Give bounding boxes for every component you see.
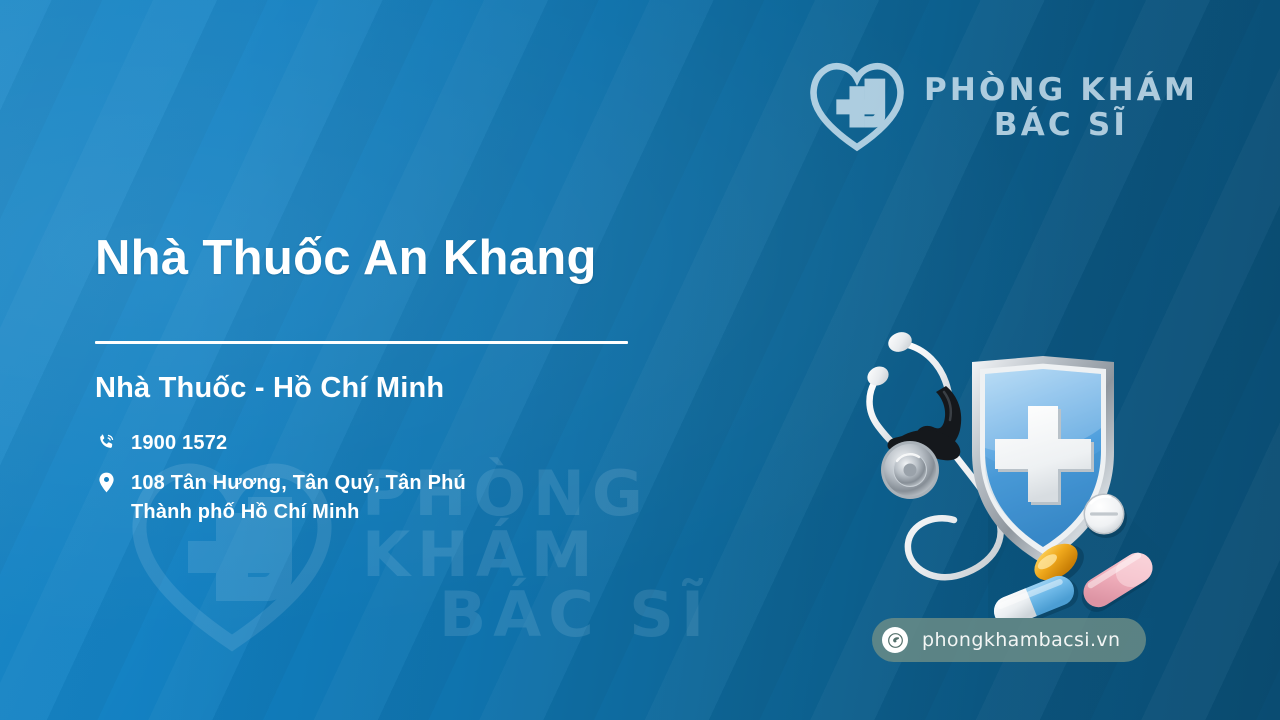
map-pin-icon	[95, 469, 117, 493]
phone-number[interactable]: 1900 1572	[131, 429, 227, 457]
brand-name: PHÒNG KHÁM BÁC SĨ	[924, 73, 1198, 142]
address-line2: Thành phố Hồ Chí Minh	[131, 501, 360, 523]
website-badge[interactable]: phongkhambacsi.vn	[872, 618, 1146, 662]
page-subtitle: Nhà Thuốc - Hồ Chí Minh	[95, 372, 795, 405]
brand-line1: PHÒNG KHÁM	[924, 73, 1198, 108]
contact-info: 1900 1572 108 Tân Hương, Tân Quý, Tân Ph…	[95, 429, 795, 526]
watermark-line2: BÁC SĨ	[362, 585, 788, 646]
main-copy-block: Nhà Thuốc An Khang Nhà Thuốc - Hồ Chí Mi…	[95, 232, 795, 538]
address-line1: 108 Tân Hương, Tân Quý, Tân Phú	[131, 472, 466, 494]
address-text: 108 Tân Hương, Tân Quý, Tân Phú Thành ph…	[131, 469, 466, 526]
address-row: 108 Tân Hương, Tân Quý, Tân Phú Thành ph…	[95, 469, 795, 526]
title-divider	[95, 341, 628, 344]
globe-icon	[882, 627, 908, 653]
brand-logo-icon	[808, 58, 906, 157]
phone-call-icon	[95, 429, 117, 451]
page-title: Nhà Thuốc An Khang	[95, 232, 795, 286]
banner-root: PHÒNG KHÁM BÁC SĨ PHÒNG KHÁM BÁC SĨ Nhà …	[0, 0, 1280, 720]
website-url: phongkhambacsi.vn	[922, 629, 1120, 651]
brand-logo: PHÒNG KHÁM BÁC SĨ	[808, 58, 1198, 157]
phone-row: 1900 1572	[95, 429, 795, 457]
illustration-stethoscope-shield-pills	[838, 318, 1188, 618]
brand-line2: BÁC SĨ	[924, 108, 1198, 143]
